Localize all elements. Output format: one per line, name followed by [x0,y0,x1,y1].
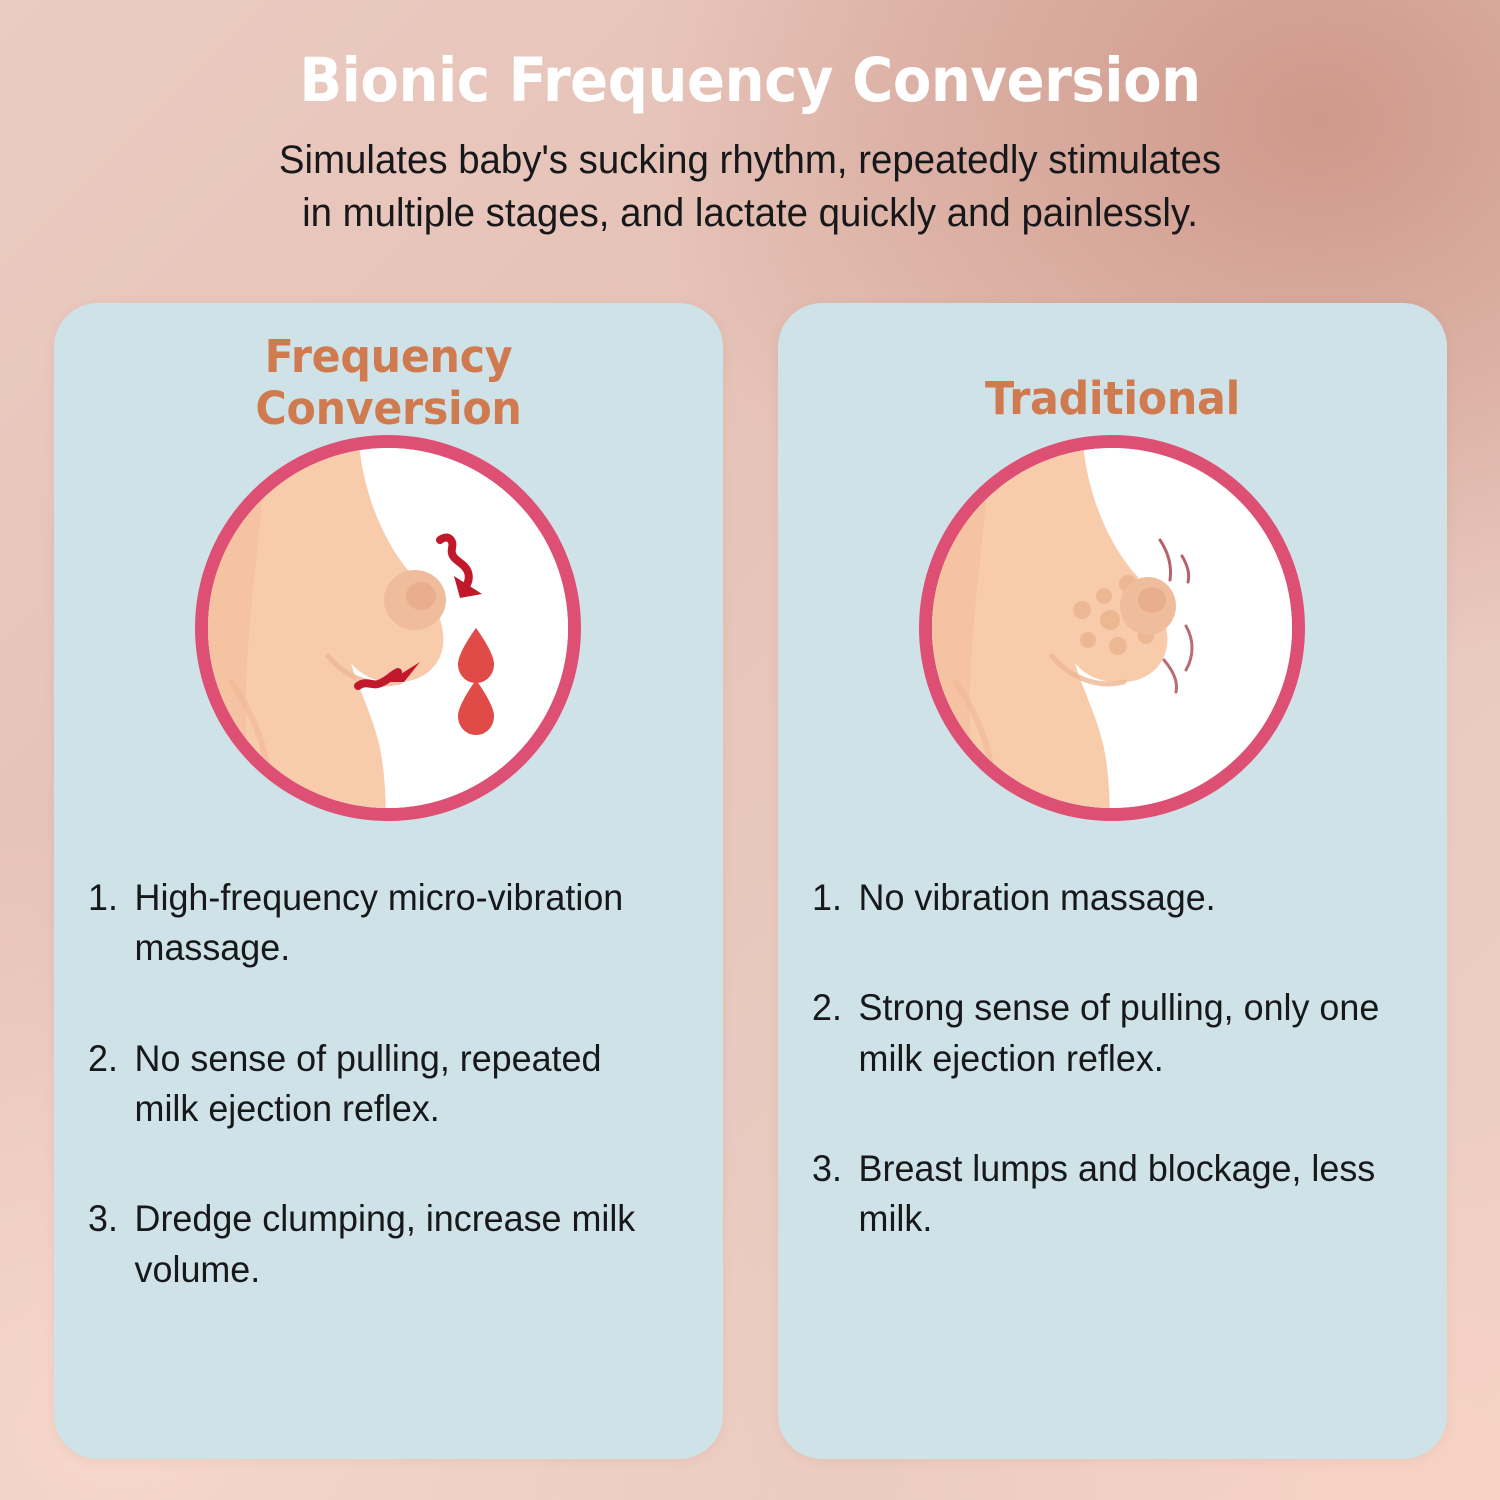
card-traditional: Traditional [778,303,1447,1459]
list-item-number: 2. [812,983,859,1033]
points-list-traditional: 1. No vibration massage. 2. Strong sense… [778,873,1447,1245]
illustration-circle-frame [195,435,581,821]
page-subtitle-line-2: in multiple stages, and lactate quickly … [30,187,1470,240]
card-frequency-conversion: Frequency Conversion [54,303,723,1459]
list-item: 2. Strong sense of pulling, only one mil… [812,983,1399,1084]
page-subtitle-line-1: Simulates baby's sucking rhythm, repeate… [30,134,1470,187]
list-item-text: High-frequency micro-vibration massage. [134,873,674,974]
card-title-frequency-conversion: Frequency Conversion [70,303,706,435]
list-item-text: Breast lumps and blockage, less milk. [858,1144,1398,1245]
card-title-line-1: Traditional [794,373,1430,425]
list-item-text: Strong sense of pulling, only one milk e… [858,983,1398,1084]
breast-lumps-blockage-icon [932,448,1292,808]
breast-milk-droplets-icon [208,448,568,808]
list-item-number: 1. [88,873,135,923]
illustration-circle-frame [919,435,1305,821]
card-title-line-1: Frequency [70,331,706,383]
illustration-traditional [919,435,1305,821]
list-item: 3. Breast lumps and blockage, less milk. [812,1144,1399,1245]
list-item-text: No sense of pulling, repeated milk eject… [134,1034,674,1135]
card-title-line-2: Conversion [70,383,706,435]
page-subtitle: Simulates baby's sucking rhythm, repeate… [30,134,1470,240]
list-item: 1. No vibration massage. [812,873,1399,923]
list-item-number: 3. [88,1194,135,1244]
list-item: 2. No sense of pulling, repeated milk ej… [88,1034,675,1135]
list-item-text: No vibration massage. [858,873,1398,923]
comparison-cards: Frequency Conversion [0,303,1500,1459]
list-item-number: 2. [88,1034,135,1084]
points-list-frequency-conversion: 1. High-frequency micro-vibration massag… [54,873,723,1295]
list-item: 1. High-frequency micro-vibration massag… [88,873,675,974]
page-title: Bionic Frequency Conversion [60,48,1440,114]
page-header: Bionic Frequency Conversion Simulates ba… [0,0,1500,239]
list-item-text: Dredge clumping, increase milk volume. [134,1194,674,1295]
list-item-number: 3. [812,1144,859,1194]
list-item: 3. Dredge clumping, increase milk volume… [88,1194,675,1295]
card-title-traditional: Traditional [794,303,1430,425]
illustration-frequency-conversion [195,435,581,821]
list-item-number: 1. [812,873,859,923]
